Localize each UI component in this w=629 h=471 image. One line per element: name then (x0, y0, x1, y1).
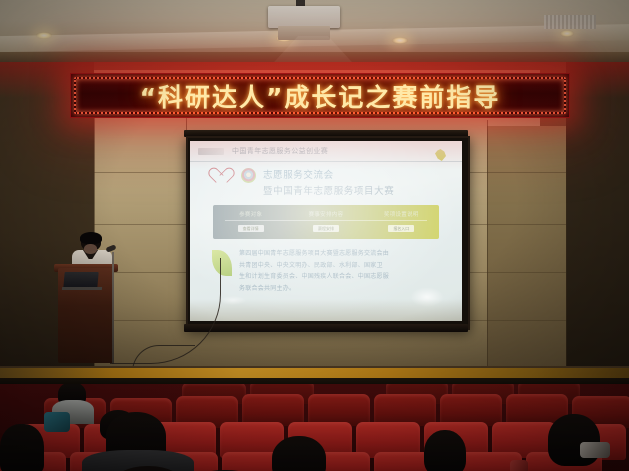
wall-panel-right (487, 126, 567, 382)
seating-area (0, 384, 629, 471)
slide-paragraph-block: 第四届中国青年志愿服务项目大赛暨志愿服务交流会由 共青团中央、中央文明办、民政部… (212, 246, 442, 292)
auditorium-photo: “科研达人”成长记之赛前指导 中国青年志愿服务公益创业赛 志愿服务交流会 暨中国… (0, 0, 629, 471)
audience-person (0, 424, 44, 471)
ceiling-projector (268, 6, 340, 28)
slide-paragraph-line: 第四届中国青年志愿服务项目大赛暨志愿服务交流会由 (239, 248, 389, 257)
presenter-face (84, 244, 97, 254)
slide-title-row: 志愿服务交流会 暨中国青年志愿服务项目大赛 (216, 167, 394, 197)
slide-bar-divider (225, 220, 427, 221)
slide-header-rule (190, 161, 462, 162)
heart-icon (216, 167, 234, 183)
led-banner-text: “科研达人”成长记之赛前指导 (71, 74, 569, 117)
slide-header-text: 中国青年志愿服务公益创业赛 (232, 146, 328, 156)
presenter-hair (80, 232, 102, 244)
wall-seam (566, 110, 567, 382)
led-banner: “科研达人”成长记之赛前指导 (70, 73, 570, 118)
slide-bar-button-slot: 查看详情 (213, 225, 288, 232)
stage-edge-strip (0, 368, 629, 378)
presenter-laptop (63, 272, 98, 288)
ceiling-downlight (36, 32, 52, 39)
ceiling-downlight (392, 37, 408, 44)
slide-brand-logo (198, 148, 224, 155)
slide-bar-buttons: 查看详情 赛程安排 报名入口 (213, 225, 439, 232)
flower-emblem-icon (241, 168, 256, 183)
projector-vent (544, 15, 596, 29)
audience-person (44, 412, 70, 432)
screen-bottom-bar (184, 324, 468, 332)
wall-seam (487, 120, 488, 382)
slide-bottom-shading (190, 299, 462, 321)
presentation-slide: 中国青年志愿服务公益创业赛 志愿服务交流会 暨中国青年志愿服务项目大赛 参赛对象… (190, 141, 462, 321)
slide-bar-button: 报名入口 (388, 225, 414, 232)
slide-bar-labels: 参赛对象 赛事安排内容 奖项设置说明 (213, 210, 439, 218)
audience-person (272, 436, 326, 471)
wall-panel-dark-right (566, 62, 629, 382)
projection-screen: 中国青年志愿服务公益创业赛 志愿服务交流会 暨中国青年志愿服务项目大赛 参赛对象… (186, 136, 470, 330)
slide-paragraph-line: 务联合会共同主办。 (239, 283, 389, 292)
slide-bar-column-label: 奖项设置说明 (364, 210, 439, 218)
slide-bar-button-slot: 报名入口 (364, 225, 439, 232)
slide-bar-column-label: 参赛对象 (213, 210, 288, 218)
slide-bar-button: 赛程安排 (313, 225, 339, 232)
slide-bar-button: 查看详情 (238, 225, 264, 232)
slide-paragraph-line: 共青团中央、中央文明办、民政部、水利部、国家卫 (239, 260, 389, 269)
slide-gradient-bar: 参赛对象 赛事安排内容 奖项设置说明 查看详情 赛程安排 报名入口 (213, 205, 439, 239)
slide-paragraph-line: 生和计划生育委员会、中国残疾人联合会、中国志愿服 (239, 271, 389, 280)
slide-bar-column-label: 赛事安排内容 (288, 210, 363, 218)
laptop-base (62, 287, 102, 290)
slide-title: 志愿服务交流会 暨中国青年志愿服务项目大赛 (263, 167, 394, 197)
slide-header: 中国青年志愿服务公益创业赛 (190, 141, 462, 161)
audience-person-scarf (580, 442, 610, 458)
ceiling-downlight (560, 30, 574, 37)
slide-title-line2: 暨中国青年志愿服务项目大赛 (263, 183, 394, 197)
audience-person (424, 430, 466, 471)
audience-person-item (510, 460, 528, 471)
slide-bar-button-slot: 赛程安排 (288, 225, 363, 232)
slide-title-line1: 志愿服务交流会 (263, 167, 394, 181)
slide-paragraph: 第四届中国青年志愿服务项目大赛暨志愿服务交流会由 共青团中央、中央文明办、民政部… (239, 246, 389, 292)
audience-person (548, 414, 600, 466)
projector-lens-housing (278, 26, 330, 40)
